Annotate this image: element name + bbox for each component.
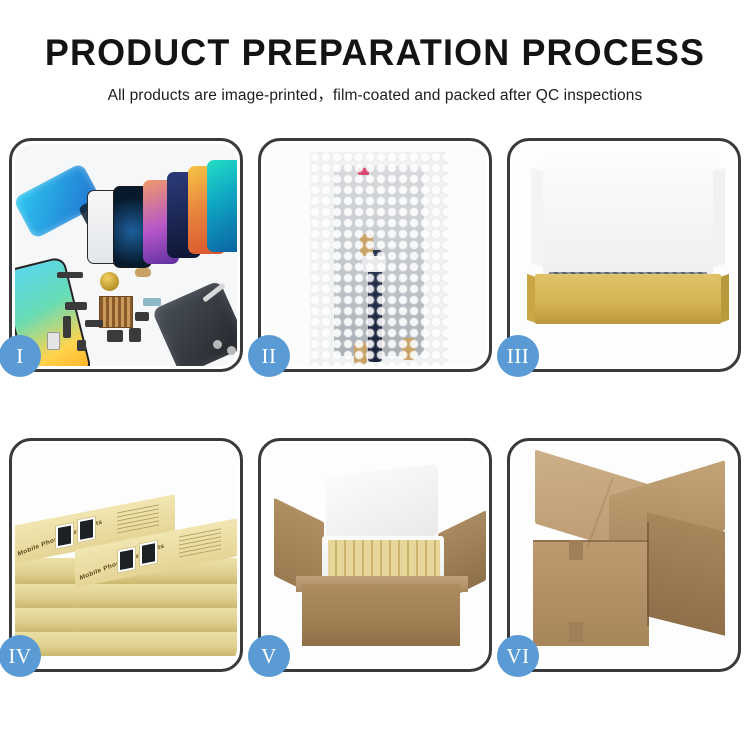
box-stack: Mobile Phone Spare Parts Mobile Phone Sp…: [15, 480, 237, 666]
step-1-photo: [15, 144, 237, 366]
phone-teal-gradient: [207, 160, 237, 252]
bubble-bag: [310, 152, 448, 366]
stacked-box-r4: [77, 582, 237, 608]
step-panel-5: V: [258, 438, 492, 672]
stacked-box-r6: [77, 630, 237, 656]
step-badge-4: IV: [0, 635, 41, 677]
phone-housing-internal: [152, 280, 237, 366]
step-badge-6: VI: [497, 635, 539, 677]
part-button: [107, 330, 123, 342]
step-4-photo: Mobile Phone Spare Parts Mobile Phone Sp…: [15, 444, 237, 666]
kraft-boxes-inside: [328, 540, 440, 580]
box-spec-lines-2: [117, 503, 159, 533]
box-window-a1: [117, 546, 136, 574]
carton-front-face: [533, 540, 649, 646]
part-screw-2: [213, 340, 222, 349]
box-window-a2: [55, 522, 74, 550]
box-window-screen-a1: [120, 549, 133, 570]
box-window-screen-a2: [58, 525, 71, 546]
kraft-tray-base: [535, 274, 721, 324]
carton-tape-bottom: [569, 622, 583, 642]
logic-board-component: [99, 296, 133, 328]
box-spec-lines-1: [179, 527, 221, 557]
part-strip-4: [85, 320, 103, 327]
step-panel-1: I: [9, 138, 243, 372]
step-panel-4: Mobile Phone Spare Parts Mobile Phone Sp…: [9, 438, 243, 672]
process-steps-grid: I II: [9, 138, 741, 672]
carton-tape-top: [569, 540, 583, 560]
step-5-photo: [264, 444, 486, 666]
part-strip-1: [57, 272, 83, 278]
box-window-screen-b1: [142, 543, 155, 564]
page-title: PRODUCT PREPARATION PROCESS: [11, 34, 739, 71]
step-badge-1: I: [0, 335, 41, 377]
step-2-photo: [264, 144, 486, 366]
box-window-b2: [77, 516, 96, 544]
page-subtitle: All products are image-printed，film-coat…: [0, 83, 750, 105]
header: PRODUCT PREPARATION PROCESS All products…: [0, 0, 750, 105]
step-badge-3: III: [497, 335, 539, 377]
step-3-photo: [513, 144, 735, 366]
step-panel-2: II: [258, 138, 492, 372]
box-window-screen-b2: [80, 519, 93, 540]
product-preparation-infographic: PRODUCT PREPARATION PROCESS All products…: [0, 0, 750, 750]
box-window-b1: [139, 540, 158, 568]
bubble-texture: [310, 152, 448, 366]
box-lid: [543, 158, 713, 280]
part-sim-tray: [47, 332, 60, 350]
part-camera: [129, 328, 141, 342]
step-badge-5: V: [248, 635, 290, 677]
speaker-component: [100, 272, 119, 291]
step-badge-2: II: [248, 335, 290, 377]
part-small-2: [77, 340, 86, 351]
carton-seam-corner: [647, 522, 649, 626]
part-screw-3: [227, 346, 236, 355]
part-strip-2: [65, 302, 87, 310]
part-strip-3: [63, 316, 71, 338]
carton-side-face: [647, 512, 725, 635]
step-panel-3: III: [507, 138, 741, 372]
part-flex-blue: [143, 298, 161, 306]
part-connector-1: [135, 268, 151, 277]
part-small-1: [135, 312, 149, 321]
stacked-box-r5: [77, 606, 237, 632]
step-6-photo: [513, 444, 735, 666]
carton-body: [302, 584, 460, 646]
step-panel-6: VI: [507, 438, 741, 672]
